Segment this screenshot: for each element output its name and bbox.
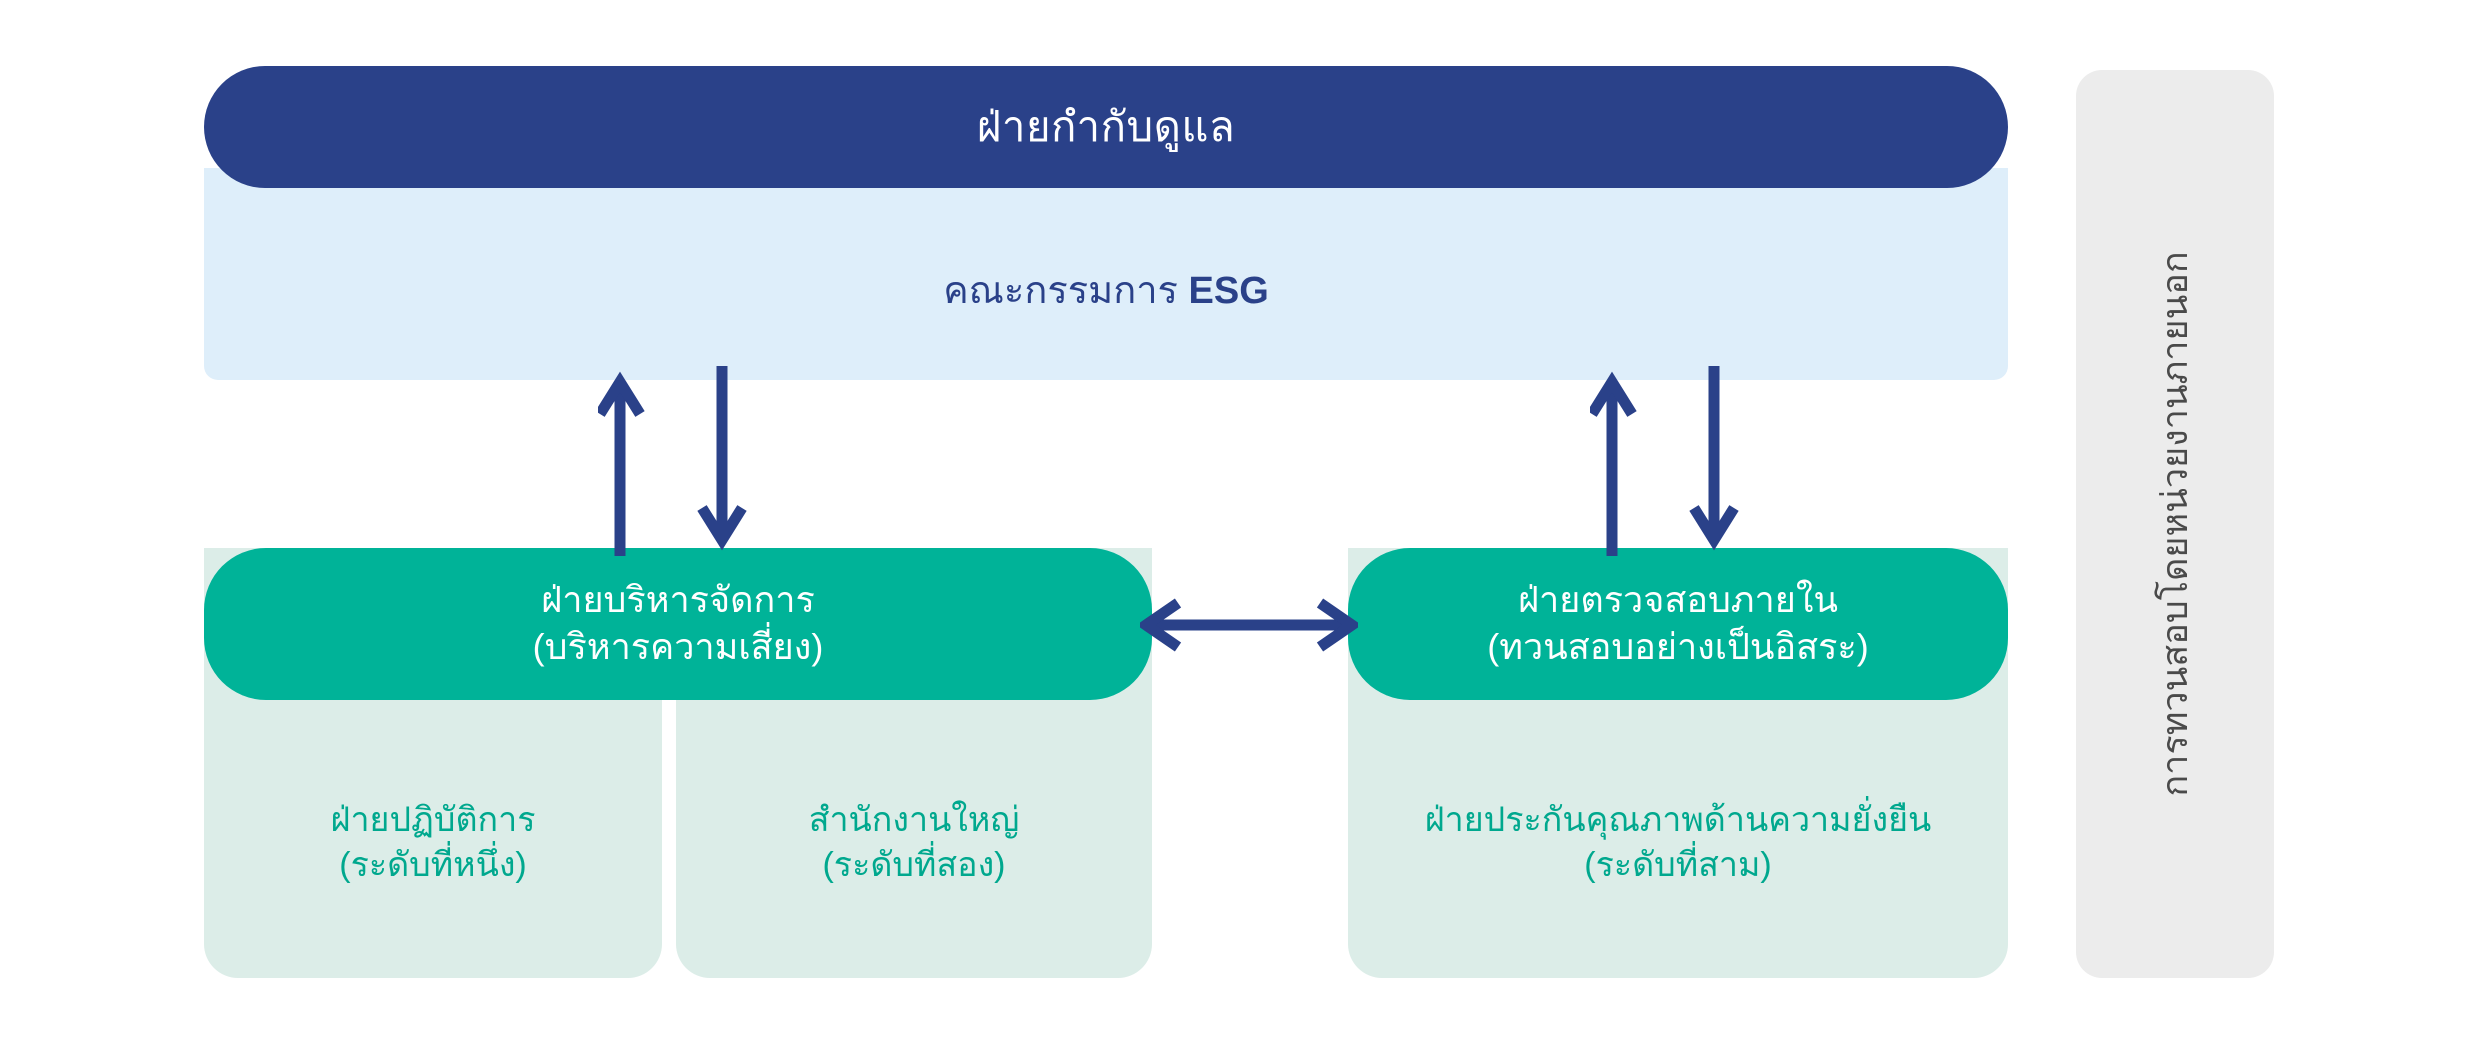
column-sqa-subtitle: (ระดับที่สาม): [1348, 843, 2008, 888]
diagram-canvas: คณะกรรมการ ESG ฝ่ายกำกับดูแล ฝ่ายปฏิบัติ…: [0, 0, 2480, 1063]
column-operations-title: ฝ่ายปฏิบัติการ: [204, 798, 662, 843]
esg-committee-label: คณะกรรมการ ESG: [204, 272, 2008, 310]
column-head-office-label: สำนักงานใหญ่ (ระดับที่สอง): [676, 798, 1152, 888]
arrow-management-audit-link: [1140, 592, 1358, 658]
green-box-internal-audit-title: ฝ่ายตรวจสอบภายใน: [1518, 577, 1838, 624]
external-verification-panel: การทวนสอบโดยหน่วยงานภายนอก: [2076, 70, 2274, 978]
green-box-management: ฝ่ายบริหารจัดการ (บริหารความเสี่ยง): [204, 548, 1152, 700]
green-box-management-subtitle: (บริหารความเสี่ยง): [533, 624, 824, 671]
column-sqa-title: ฝ่ายประกันคุณภาพด้านความยั่งยืน: [1348, 798, 2008, 843]
arrow-management-direction-down: [690, 366, 830, 556]
esg-committee-panel: คณะกรรมการ ESG: [204, 168, 2008, 380]
column-head-office-subtitle: (ระดับที่สอง): [676, 843, 1152, 888]
column-head-office-title: สำนักงานใหญ่: [676, 798, 1152, 843]
green-box-management-title: ฝ่ายบริหารจัดการ: [541, 577, 815, 624]
external-verification-label: การทวนสอบโดยหน่วยงานภายนอก: [2157, 251, 2193, 796]
green-box-internal-audit: ฝ่ายตรวจสอบภายใน (ทวนสอบอย่างเป็นอิสระ): [1348, 548, 2008, 700]
esg-committee-label-prefix: คณะกรรมการ: [943, 270, 1188, 312]
esg-committee-label-acronym: ESG: [1189, 270, 1269, 312]
green-box-internal-audit-subtitle: (ทวนสอบอย่างเป็นอิสระ): [1487, 624, 1869, 671]
governance-bar-label: ฝ่ายกำกับดูแล: [977, 106, 1236, 148]
column-operations-subtitle: (ระดับที่หนึ่ง): [204, 843, 662, 888]
column-operations-label: ฝ่ายปฏิบัติการ (ระดับที่หนึ่ง): [204, 798, 662, 888]
governance-bar: ฝ่ายกำกับดูแล: [204, 66, 2008, 188]
arrow-audit-direction-down: [1682, 366, 1822, 556]
column-sustainability-quality-assurance-label: ฝ่ายประกันคุณภาพด้านความยั่งยืน (ระดับที…: [1348, 798, 2008, 888]
